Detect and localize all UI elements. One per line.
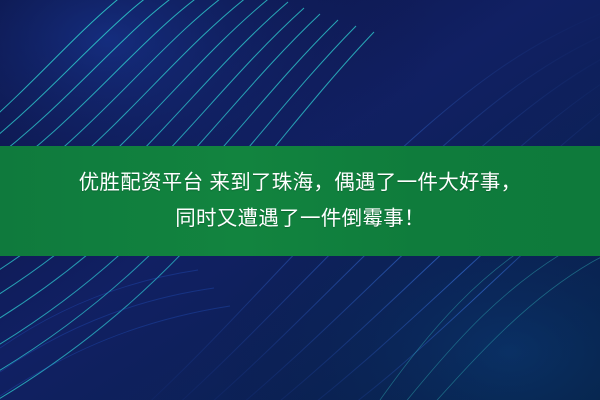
page-title: 优胜配资平台 来到了珠海，偶遇了一件大好事， 同时又遭遇了一件倒霉事！ [79, 165, 522, 237]
banner-image: 优胜配资平台 来到了珠海，偶遇了一件大好事， 同时又遭遇了一件倒霉事！ [0, 0, 600, 400]
title-banner-band: 优胜配资平台 来到了珠海，偶遇了一件大好事， 同时又遭遇了一件倒霉事！ [0, 146, 600, 256]
